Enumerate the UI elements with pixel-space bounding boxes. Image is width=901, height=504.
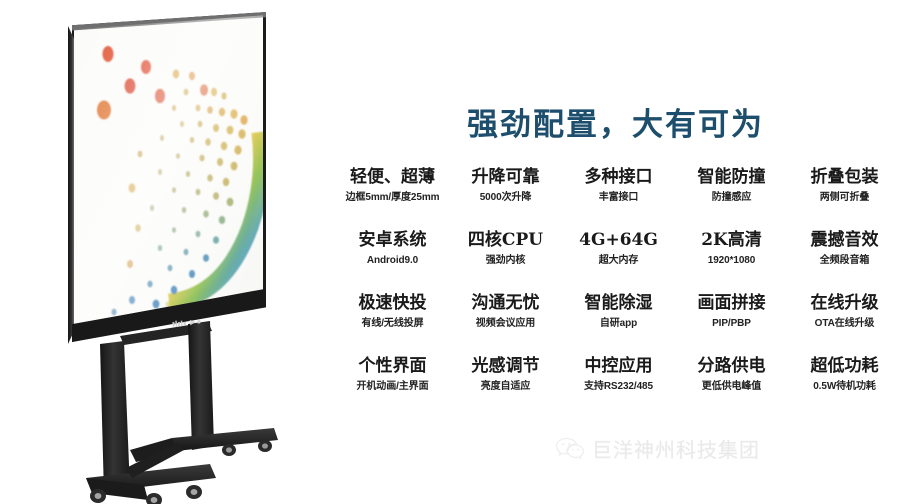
wechat-icon (555, 437, 585, 461)
feature-cell-4: 智能防撞 防撞感应 (675, 166, 788, 229)
feature-subtitle: 更低供电峰值 (702, 380, 761, 393)
product-photo (0, 0, 330, 504)
feature-title: 四核CPU (468, 230, 543, 251)
feature-title: 多种接口 (585, 167, 653, 188)
feature-cell-12: 沟通无忧 视频会议应用 (449, 292, 562, 355)
feature-subtitle: 超大内存 (599, 254, 639, 267)
feature-subtitle: 两侧可折叠 (820, 191, 870, 204)
feature-subtitle: 强劲内核 (486, 254, 526, 267)
feature-title: 智能防撞 (698, 167, 766, 188)
feature-subtitle: Android9.0 (367, 254, 418, 267)
feature-cell-1: 轻便、超薄 边框5mm/厚度25mm (336, 166, 449, 229)
watermark-text: 巨洋神州科技集团 (592, 434, 760, 463)
feature-subtitle: 5000次升降 (480, 191, 532, 204)
feature-cell-6: 安卓系统 Android9.0 (336, 229, 449, 292)
display-panel (68, 12, 266, 342)
feature-cell-17: 光感调节 亮度自适应 (449, 355, 562, 418)
feature-cell-14: 画面拼接 PIP/PBP (675, 292, 788, 355)
feature-cell-13: 智能除湿 自研app (562, 292, 675, 355)
watermark: 巨洋神州科技集团 (555, 434, 760, 463)
feature-subtitle: 有线/无线投屏 (361, 317, 423, 330)
panel-left-edge (68, 26, 74, 344)
feature-title: 分路供电 (698, 356, 766, 377)
page-title: 强劲配置，大有可为 (330, 99, 901, 144)
feature-title: 智能除湿 (585, 293, 653, 314)
feature-cell-7: 四核CPU 强劲内核 (449, 229, 562, 292)
feature-cell-9: 2K高清 1920*1080 (675, 229, 788, 292)
feature-subtitle: 全频段音箱 (820, 254, 870, 267)
content-panel: 强劲配置，大有可为 轻便、超薄 边框5mm/厚度25mm 升降可靠 5000次升… (330, 0, 901, 504)
feature-title: 折叠包装 (811, 167, 879, 188)
feature-cell-18: 中控应用 支持RS232/485 (562, 355, 675, 418)
feature-subtitle: 丰富接口 (599, 191, 639, 204)
feature-title: 画面拼接 (698, 293, 766, 314)
feature-title: 沟通无忧 (472, 293, 540, 314)
feature-subtitle: OTA在线升级 (815, 317, 875, 330)
feature-title: 光感调节 (472, 356, 540, 377)
panel-screen (74, 12, 263, 342)
screen-artwork (74, 12, 263, 342)
feature-subtitle: 0.5W待机功耗 (813, 380, 876, 393)
feature-title: 安卓系统 (359, 230, 427, 251)
feature-title: 个性界面 (359, 356, 427, 377)
feature-title: 升降可靠 (472, 167, 540, 188)
feature-title: 中控应用 (585, 356, 653, 377)
feature-subtitle: 亮度自适应 (481, 380, 531, 393)
feature-subtitle: PIP/PBP (712, 317, 751, 330)
feature-subtitle: 边框5mm/厚度25mm (346, 191, 440, 204)
rainbow-particle-arc-svg (74, 12, 263, 342)
feature-cell-19: 分路供电 更低供电峰值 (675, 355, 788, 418)
feature-subtitle: 1920*1080 (708, 254, 755, 267)
feature-cell-11: 极速快投 有线/无线投屏 (336, 292, 449, 355)
feature-title: 极速快投 (359, 293, 427, 314)
feature-title: 震撼音效 (811, 230, 879, 251)
feature-title: 4G+64G (579, 230, 658, 251)
feature-cell-8: 4G+64G 超大内存 (562, 229, 675, 292)
feature-subtitle: 开机动画/主界面 (357, 380, 429, 393)
feature-subtitle: 视频会议应用 (476, 317, 535, 330)
feature-cell-10: 震撼音效 全频段音箱 (788, 229, 901, 292)
feature-title: 2K高清 (701, 230, 762, 251)
feature-title: 轻便、超薄 (350, 167, 435, 188)
feature-cell-15: 在线升级 OTA在线升级 (788, 292, 901, 355)
feature-cell-20: 超低功耗 0.5W待机功耗 (788, 355, 901, 418)
feature-title: 超低功耗 (811, 356, 879, 377)
feature-grid: 轻便、超薄 边框5mm/厚度25mm 升降可靠 5000次升降 多种接口 丰富接… (336, 166, 901, 418)
feature-cell-5: 折叠包装 两侧可折叠 (788, 166, 901, 229)
feature-subtitle: 防撞感应 (712, 191, 752, 204)
feature-cell-3: 多种接口 丰富接口 (562, 166, 675, 229)
feature-subtitle: 自研app (600, 317, 637, 330)
feature-title: 在线升级 (811, 293, 879, 314)
slide-canvas: 强劲配置，大有可为 轻便、超薄 边框5mm/厚度25mm 升降可靠 5000次升… (0, 0, 901, 504)
feature-cell-16: 个性界面 开机动画/主界面 (336, 355, 449, 418)
feature-subtitle: 支持RS232/485 (584, 380, 653, 393)
feature-cell-2: 升降可靠 5000次升降 (449, 166, 562, 229)
